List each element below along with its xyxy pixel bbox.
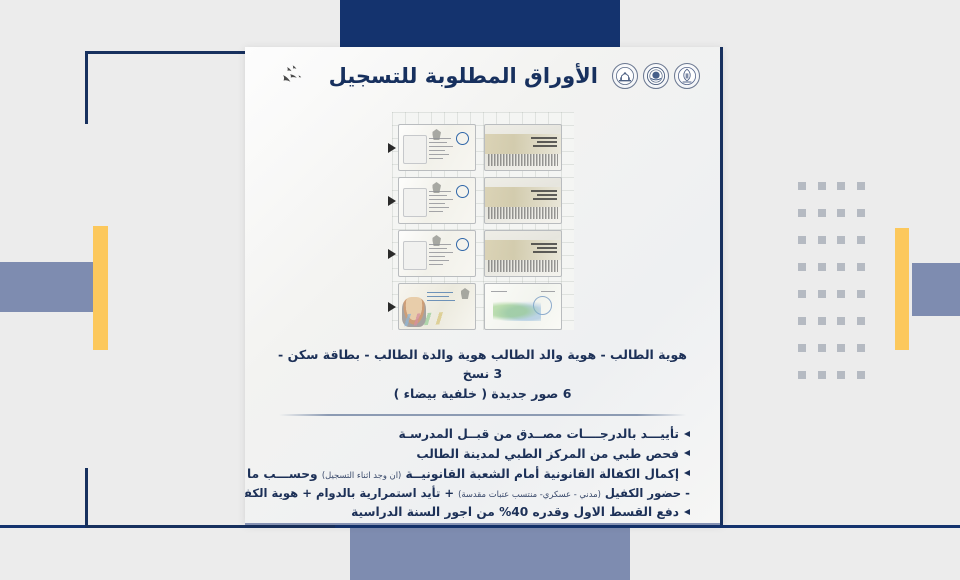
requirements-list: تأييـــد بالدرجــــات مصــدق من قبــل ال… [275, 425, 690, 523]
section-divider [279, 414, 686, 416]
list-item-note: (مدني - عسكري- منتسب عتبات مقدسة) [458, 489, 601, 499]
id-card-back [484, 230, 562, 277]
card-body: هوية الطالب - هوية والد الطالب هوية والد… [245, 337, 720, 523]
list-item: فحص طبي من المركز الطبي لمدينة الطالب [279, 445, 690, 465]
documents-image [245, 105, 720, 337]
dot-grid-pattern [798, 182, 876, 398]
bottom-periwinkle-bar [350, 523, 630, 580]
list-item-label: فحص طبي من المركز الطبي لمدينة الطالب [416, 447, 679, 461]
arrow-marker-icon [388, 143, 396, 153]
lead-paragraph: هوية الطالب - هوية والد الطالب هوية والد… [275, 345, 690, 403]
announcement-card: الأوراق المطلوبة للتسجيل [245, 47, 723, 525]
bullet-triangle-icon [684, 450, 690, 456]
certificate-document [484, 283, 562, 330]
list-item-label: إكمال الكفالة القانونية أمام الشعبة القا… [406, 467, 679, 481]
card-header: الأوراق المطلوبة للتسجيل [245, 47, 720, 105]
right-periwinkle-slab [912, 263, 960, 316]
list-item-label-tail: وحســـب ما يلي: [245, 467, 318, 481]
id-card-front [398, 124, 476, 171]
document-row [398, 177, 562, 224]
arrow-marker-icon [388, 196, 396, 206]
right-yellow-bar [895, 228, 909, 350]
residency-photo-card [398, 283, 476, 330]
left-yellow-bar [93, 226, 108, 350]
logo-row [612, 63, 700, 89]
list-item: إكمال الكفالة القانونية أمام الشعبة القا… [279, 465, 690, 485]
list-item: دفع القسط الاول وقدره 40% من اجور السنة … [279, 503, 690, 523]
bullet-triangle-icon [684, 509, 690, 515]
card-footer: ☎ 5751 0773 489 6226 0780 100 3060 f ○ ➤… [245, 523, 720, 525]
list-item-label: تأييـــد بالدرجــــات مصــدق من قبــل ال… [398, 427, 679, 441]
top-navy-bar [340, 0, 620, 47]
list-item-label: دفع القسط الاول وقدره 40% من اجور السنة … [351, 505, 679, 519]
left-periwinkle-slab [0, 262, 93, 312]
bullet-triangle-icon [684, 470, 690, 476]
id-card-back [484, 177, 562, 224]
birds-icon [277, 61, 311, 91]
lead-line-1: هوية الطالب - هوية والد الطالب هوية والد… [275, 345, 690, 384]
document-row [398, 230, 562, 277]
directorate-seal-logo [643, 63, 669, 89]
list-item: تأييـــد بالدرجــــات مصــدق من قبــل ال… [279, 425, 690, 445]
id-card-back [484, 124, 562, 171]
document-row [398, 124, 562, 171]
list-item: - حضور الكفيل (مدني - عسكري- منتسب عتبات… [279, 484, 690, 503]
id-card-front [398, 230, 476, 277]
list-item-label-tail: + تأيد استمرارية بالدوام + هوية الكفيل [245, 486, 454, 500]
document-row [398, 283, 562, 330]
list-item-note: (ان وجد اثناء التسجيل) [322, 470, 401, 480]
arrow-marker-icon [388, 249, 396, 259]
arrow-marker-icon [388, 302, 396, 312]
ministry-emblem-logo [674, 63, 700, 89]
page-title: الأوراق المطلوبة للتسجيل [329, 64, 598, 88]
id-card-front [398, 177, 476, 224]
list-item-label: - حضور الكفيل [605, 486, 690, 500]
school-crest-logo [612, 63, 638, 89]
lead-line-2: 6 صور جديدة ( خلفية بيضاء ) [275, 384, 690, 403]
bullet-triangle-icon [684, 431, 690, 437]
